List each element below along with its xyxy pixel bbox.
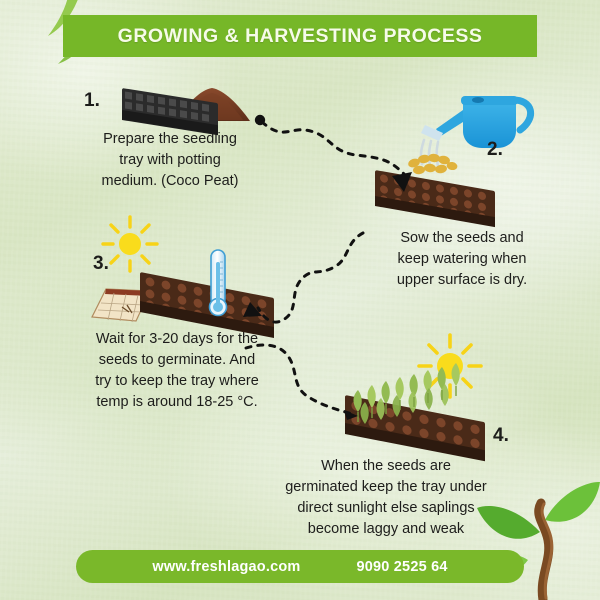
sapling-leaf-left — [477, 506, 540, 539]
footer-phone[interactable]: 9090 2525 64 — [357, 559, 448, 575]
footer-website[interactable]: www.freshlagao.com — [152, 559, 300, 575]
infographic-poster: GROWING & HARVESTING PROCESS — [0, 0, 600, 600]
sapling-decoration — [0, 0, 600, 600]
sapling-leaf-right — [545, 482, 600, 522]
footer-contact-bar: www.freshlagao.com 9090 2525 64 — [76, 550, 524, 583]
